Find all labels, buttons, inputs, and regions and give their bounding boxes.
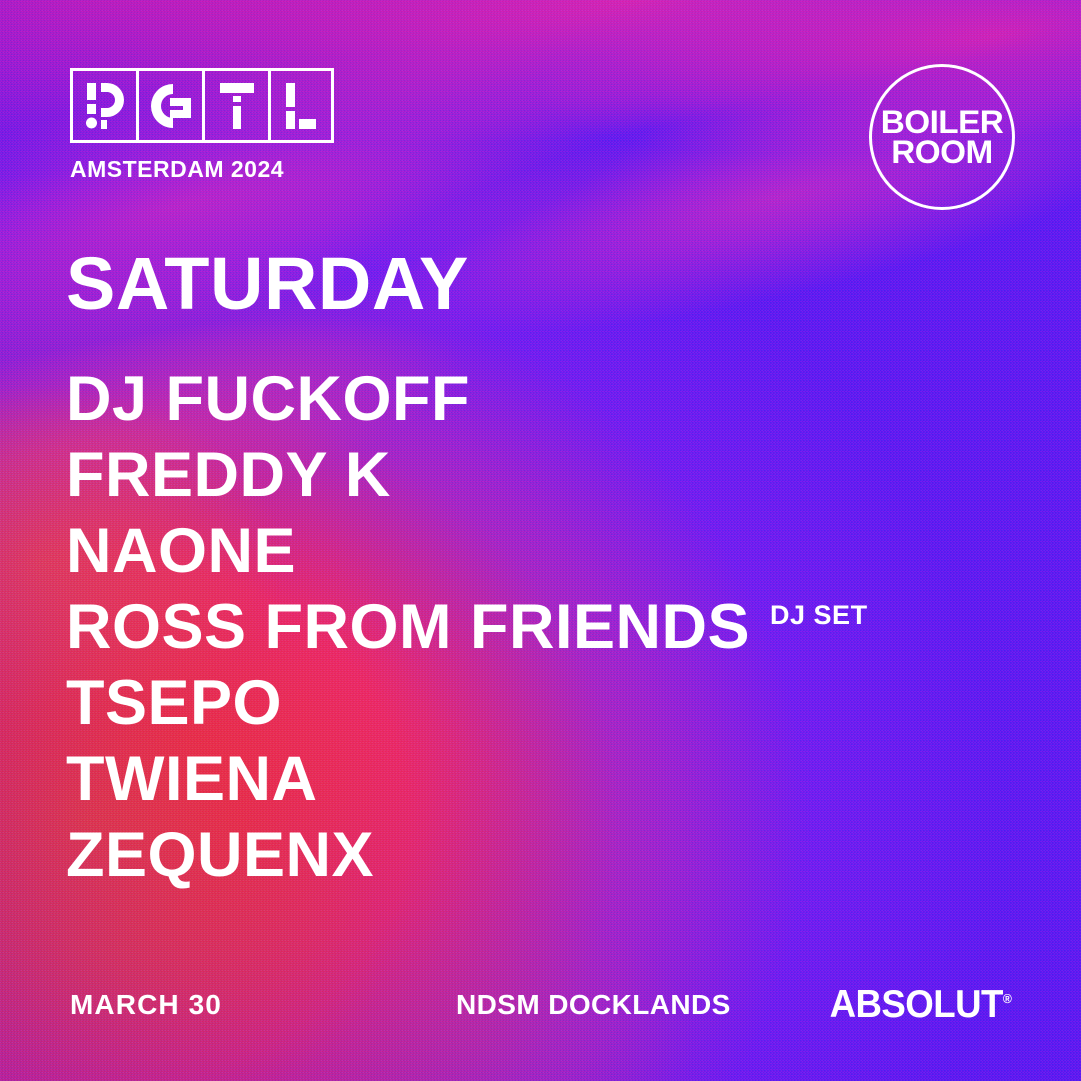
artist-set-tag: DJ SET <box>770 602 868 629</box>
dgtl-logo-boxes <box>70 68 334 143</box>
poster-footer: MARCH 30 NDSM DOCKLANDS ABSOLUT® <box>0 989 1081 1023</box>
dgtl-letter-d-cell <box>70 68 136 143</box>
lineup-item: TWIENA <box>66 746 1026 822</box>
festival-poster: AMSTERDAM 2024 BOILER ROOM SATURDAY DJ F… <box>0 0 1081 1081</box>
sponsor-logo-absolut: ABSOLUT® <box>829 983 1011 1027</box>
lineup-item: TSEPO <box>66 670 1026 746</box>
dgtl-letter-l-cell <box>268 68 334 143</box>
boiler-room-logo: BOILER ROOM <box>869 64 1015 210</box>
artist-name: NAONE <box>66 518 296 585</box>
dgtl-letter-t-cell <box>202 68 268 143</box>
lineup-item: ZEQUENX <box>66 822 1026 898</box>
lineup-item: ROSS FROM FRIENDSDJ SET <box>66 594 1026 670</box>
letter-g-stencil-icon <box>151 84 191 128</box>
artist-name: DJ FUCKOFF <box>66 366 470 433</box>
artist-name: FREDDY K <box>66 442 391 509</box>
lineup-item: NAONE <box>66 518 1026 594</box>
registered-trademark-icon: ® <box>1003 991 1011 1006</box>
artist-name: TSEPO <box>66 670 282 737</box>
lineup-item: FREDDY K <box>66 442 1026 518</box>
dgtl-subtitle: AMSTERDAM 2024 <box>70 156 284 183</box>
boiler-room-line1: BOILER <box>855 107 1030 137</box>
letter-t-stencil-icon <box>220 83 254 129</box>
lineup-item: DJ FUCKOFF <box>66 366 1026 442</box>
day-headline: SATURDAY <box>66 247 469 321</box>
letter-l-stencil-icon <box>286 83 316 129</box>
sponsor-name: ABSOLUT <box>829 983 1002 1026</box>
artist-name: ZEQUENX <box>66 822 374 889</box>
dgtl-logo: AMSTERDAM 2024 <box>70 68 334 183</box>
event-venue: NDSM DOCKLANDS <box>456 989 731 1021</box>
boiler-room-line2: ROOM <box>855 137 1030 167</box>
event-date: MARCH 30 <box>70 989 222 1021</box>
dgtl-letter-g-cell <box>136 68 202 143</box>
artist-name: ROSS FROM FRIENDS <box>66 594 750 661</box>
lineup-list: DJ FUCKOFFFREDDY KNAONEROSS FROM FRIENDS… <box>66 366 1026 898</box>
boiler-room-wordmark: BOILER ROOM <box>858 107 1026 167</box>
artist-name: TWIENA <box>66 746 317 813</box>
letter-d-stencil-icon <box>86 83 124 129</box>
